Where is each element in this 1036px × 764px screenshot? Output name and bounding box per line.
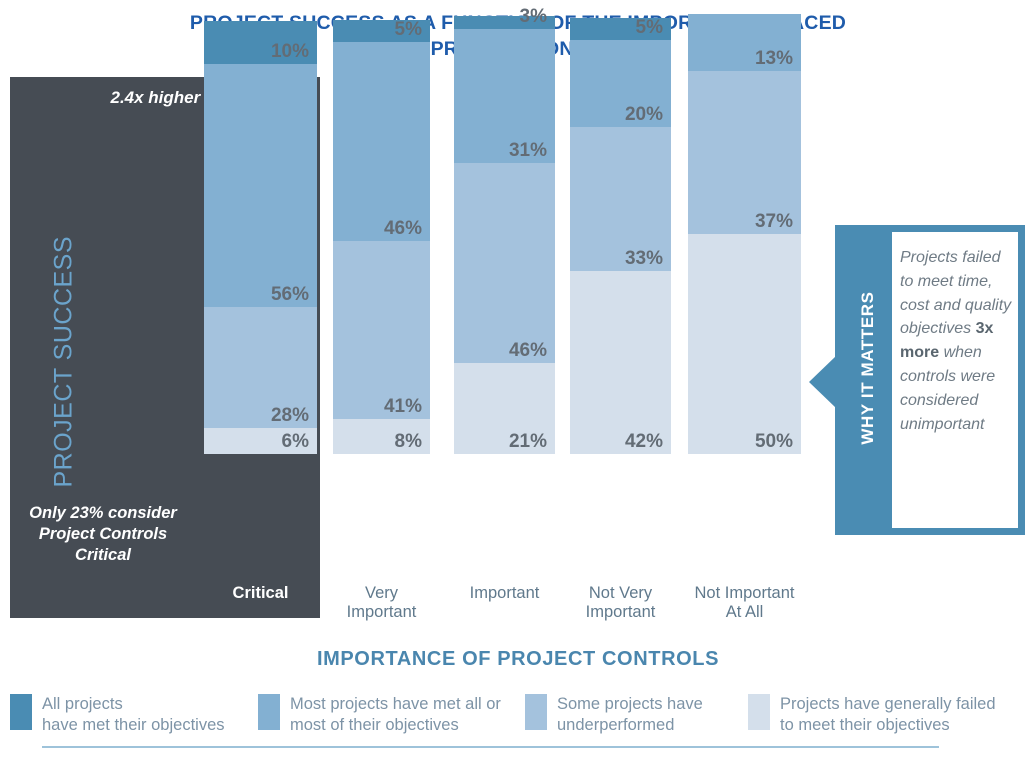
legend-label: Some projects have underperformed: [557, 694, 703, 736]
callout-body: Projects failed to meet time, cost and q…: [892, 232, 1018, 528]
segment-value-label: 31%: [509, 141, 547, 161]
legend-label: Most projects have met all or most of th…: [290, 694, 501, 736]
legend-item-2[interactable]: Some projects have underperformed: [525, 694, 740, 736]
bar-segment-not-important-at-all-2[interactable]: 37%: [688, 71, 801, 234]
category-label-critical: Critical: [204, 584, 317, 603]
bar-not-very-important[interactable]: 5%20%33%42%: [570, 18, 671, 454]
segment-value-label: 37%: [755, 212, 793, 232]
bar-segment-important-3[interactable]: 21%: [454, 363, 555, 454]
segment-value-label: 50%: [755, 432, 793, 452]
bar-important[interactable]: 3%31%46%21%: [454, 16, 555, 454]
legend-label: All projects have met their objectives: [42, 694, 225, 736]
legend-item-0[interactable]: All projects have met their objectives: [10, 694, 250, 736]
category-label-not-very-important: Not Very Important: [570, 584, 671, 622]
bar-segment-important-2[interactable]: 46%: [454, 163, 555, 363]
legend-label: Projects have generally failed to meet t…: [780, 694, 996, 736]
bar-very-important[interactable]: 5%46%41%8%: [333, 20, 430, 454]
legend-swatch-icon: [525, 694, 547, 730]
infographic-root: PROJECT SUCCESS AS A FUNCTION OF THE IMP…: [0, 0, 1036, 764]
bar-segment-not-important-at-all-1[interactable]: 13%: [688, 14, 801, 71]
segment-value-label: 3%: [520, 7, 547, 27]
segment-value-label: 5%: [395, 20, 422, 40]
bar-segment-not-very-important-0[interactable]: 5%: [570, 18, 671, 40]
bar-not-important-at-all[interactable]: 13%37%50%: [688, 14, 801, 454]
bar-segment-not-very-important-1[interactable]: 20%: [570, 40, 671, 127]
callout-side-band: WHY IT MATTERS: [843, 225, 887, 535]
legend-divider: [42, 746, 939, 748]
segment-value-label: 41%: [384, 397, 422, 417]
bar-segment-very-important-2[interactable]: 41%: [333, 241, 430, 419]
segment-value-label: 46%: [384, 219, 422, 239]
bar-segment-important-1[interactable]: 31%: [454, 29, 555, 163]
category-label-very-important: Very Important: [333, 584, 430, 622]
bar-segment-very-important-1[interactable]: 46%: [333, 42, 430, 242]
bar-critical[interactable]: 10%56%28%6%: [204, 21, 317, 454]
bar-segment-not-very-important-2[interactable]: 33%: [570, 127, 671, 271]
bar-segment-not-very-important-3[interactable]: 42%: [570, 271, 671, 454]
callout-side-label: WHY IT MATTERS: [858, 238, 878, 498]
bar-segment-critical-1[interactable]: 56%: [204, 64, 317, 306]
bar-segment-very-important-0[interactable]: 5%: [333, 20, 430, 42]
bar-segment-critical-2[interactable]: 28%: [204, 307, 317, 428]
segment-value-label: 10%: [271, 42, 309, 62]
bar-segment-critical-3[interactable]: 6%: [204, 428, 317, 454]
why-it-matters-callout: WHY IT MATTERS Projects failed to meet t…: [835, 225, 1025, 535]
legend-swatch-icon: [748, 694, 770, 730]
legend-swatch-icon: [10, 694, 32, 730]
segment-value-label: 20%: [625, 105, 663, 125]
legend-item-1[interactable]: Most projects have met all or most of th…: [258, 694, 518, 736]
x-axis-label: IMPORTANCE OF PROJECT CONTROLS: [0, 648, 1036, 671]
segment-value-label: 6%: [282, 432, 309, 452]
callout-text-pre: Projects failed to meet time, cost and q…: [900, 249, 1011, 337]
segment-value-label: 13%: [755, 49, 793, 69]
segment-value-label: 28%: [271, 406, 309, 426]
bar-segment-critical-0[interactable]: 10%: [204, 21, 317, 64]
segment-value-label: 21%: [509, 432, 547, 452]
segment-value-label: 56%: [271, 285, 309, 305]
callout-arrow-icon: [809, 356, 836, 408]
legend: All projects have met their objectivesMo…: [0, 694, 1036, 746]
legend-swatch-icon: [258, 694, 280, 730]
category-label-important: Important: [454, 584, 555, 603]
segment-value-label: 33%: [625, 249, 663, 269]
bar-segment-not-important-at-all-3[interactable]: 50%: [688, 234, 801, 454]
bar-segment-very-important-3[interactable]: 8%: [333, 419, 430, 454]
segment-value-label: 5%: [636, 18, 663, 38]
bar-segment-important-0[interactable]: 3%: [454, 16, 555, 29]
segment-value-label: 46%: [509, 341, 547, 361]
segment-value-label: 8%: [395, 432, 422, 452]
category-label-not-important-at-all: Not Important At All: [688, 584, 801, 622]
legend-item-3[interactable]: Projects have generally failed to meet t…: [748, 694, 1028, 736]
segment-value-label: 42%: [625, 432, 663, 452]
